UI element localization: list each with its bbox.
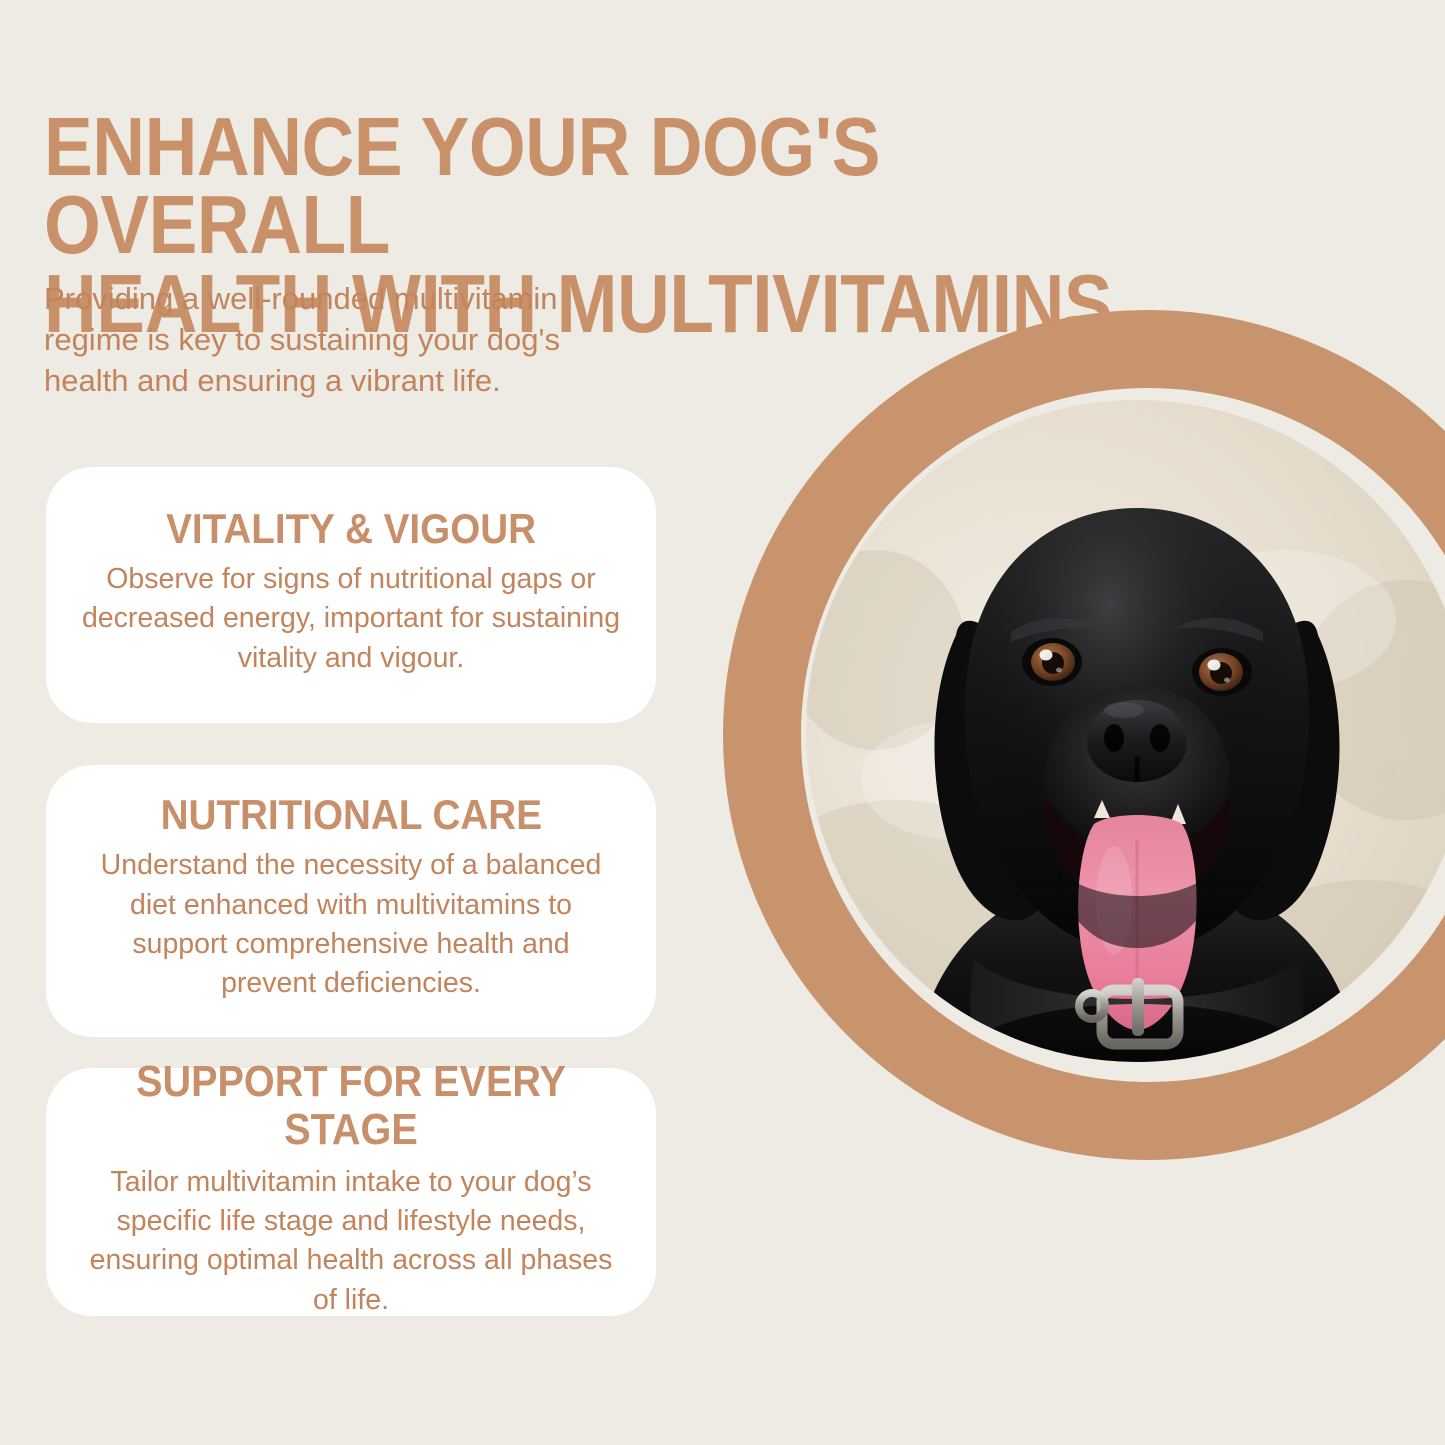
feature-card-title: NUTRITIONAL CARE (160, 792, 541, 838)
photo-area (700, 290, 1445, 1180)
feature-card-body: Observe for signs of nutritional gaps or… (82, 560, 620, 678)
dog-portrait-illustration (806, 400, 1445, 1062)
dog-photo (806, 400, 1445, 1062)
dog-left-eye (1022, 638, 1082, 686)
feature-card-support-every-stage[interactable]: SUPPORT FOR EVERY STAGE Tailor multivita… (46, 1068, 656, 1316)
feature-card-body: Understand the necessity of a balanced d… (101, 846, 602, 1003)
feature-card-title: VITALITY & VIGOUR (166, 506, 536, 552)
subtitle-text: Providing a well-rounded multivitamin re… (44, 279, 619, 402)
feature-card-nutritional-care[interactable]: NUTRITIONAL CARE Understand the necessit… (46, 765, 656, 1037)
feature-card-vitality[interactable]: VITALITY & VIGOUR Observe for signs of n… (46, 467, 656, 723)
dog-right-eye (1192, 648, 1252, 696)
feature-card-body: Tailor multivitamin intake to your dog’s… (90, 1163, 613, 1320)
feature-card-title: SUPPORT FOR EVERY STAGE (91, 1058, 611, 1155)
infographic-canvas: ENHANCE YOUR DOG'S OVERALL HEALTH WITH M… (0, 0, 1445, 1445)
